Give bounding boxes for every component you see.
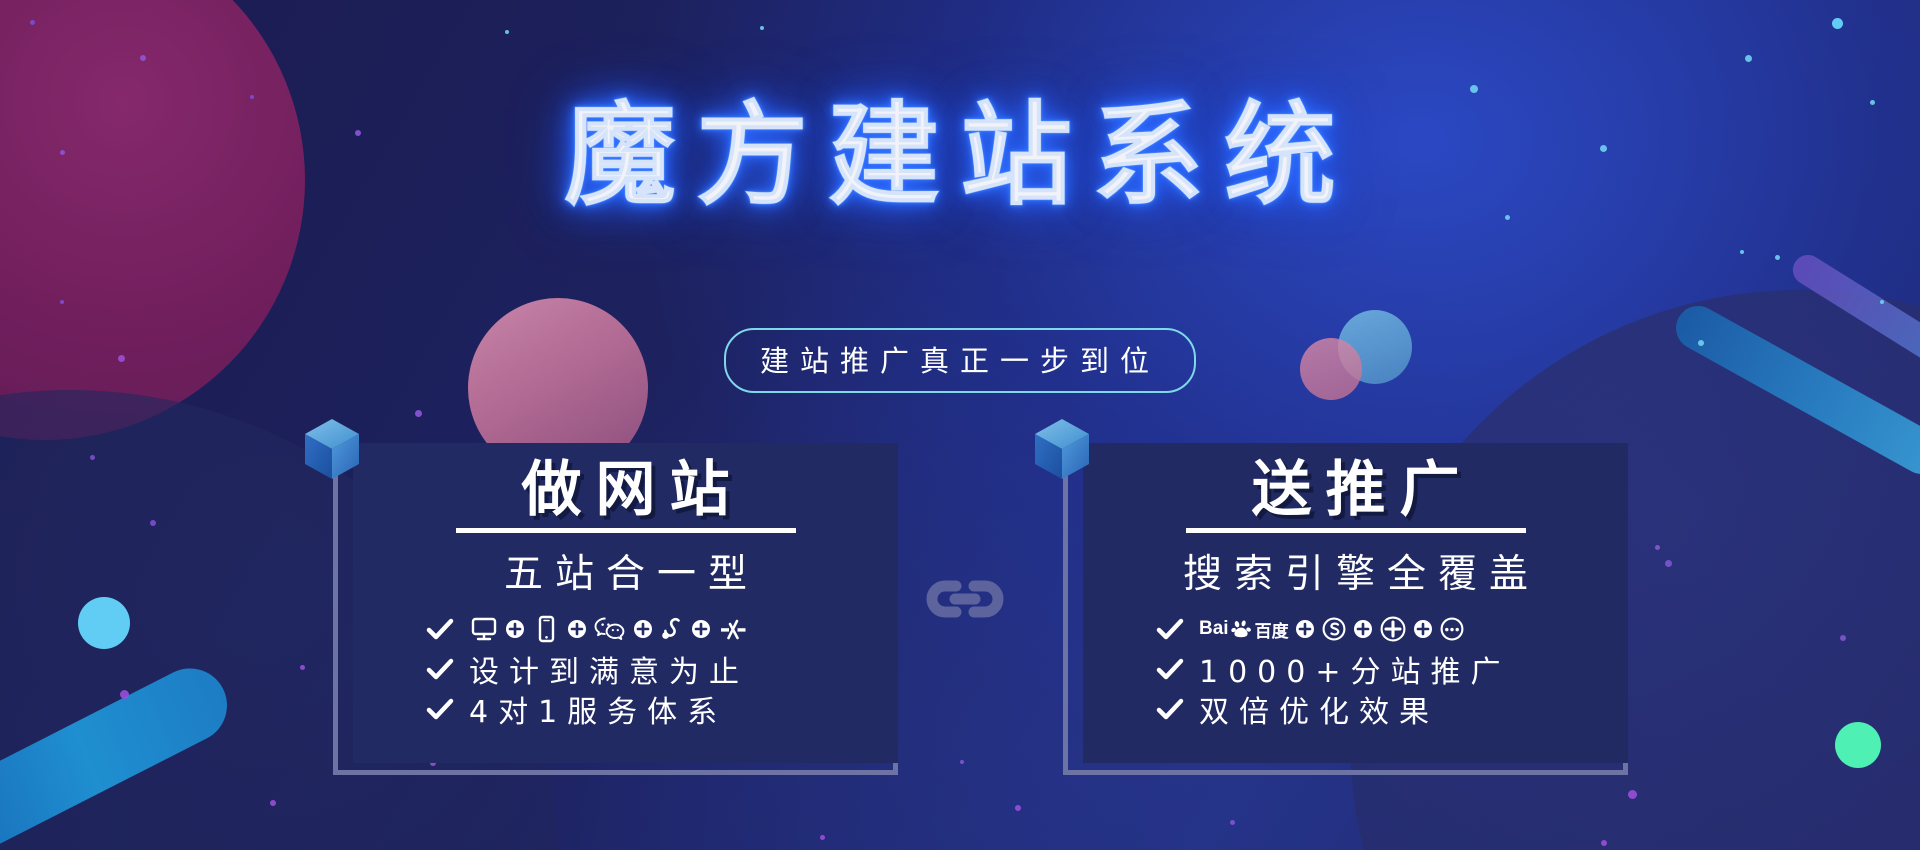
sogou-icon	[1321, 616, 1347, 642]
promo-banner: 魔方建站系统 建站推广真正一步到位	[0, 0, 1920, 850]
star-dot	[120, 690, 129, 699]
star-dot	[1745, 55, 1752, 62]
star-dot	[1840, 635, 1846, 641]
list-item: 4对1服务体系	[425, 689, 898, 729]
card-bullets: Bai 百度	[1083, 609, 1628, 729]
card-subtitle: 五站合一型	[492, 543, 759, 599]
list-item: 1000+分站推广	[1155, 649, 1628, 689]
plus-icon	[1353, 619, 1373, 639]
subtitle-container: 建站推广真正一步到位	[0, 328, 1920, 393]
star-dot	[415, 410, 422, 417]
wechat-icon	[593, 614, 627, 644]
list-item-label: 设计到满意为止	[469, 647, 749, 691]
mobile-icon	[531, 614, 561, 644]
plus-icon	[505, 619, 525, 639]
star-dot	[140, 55, 146, 61]
star-dot	[760, 26, 764, 30]
list-item-label: 双倍优化效果	[1199, 687, 1439, 731]
star-dot	[960, 760, 964, 764]
baidu-latin: Bai	[1199, 618, 1229, 640]
card-title: 送推广	[1238, 459, 1474, 522]
star-dot	[90, 455, 95, 460]
star-dot	[1015, 805, 1021, 811]
star-dot	[1230, 820, 1235, 825]
subtitle-pill: 建站推广真正一步到位	[724, 328, 1196, 393]
star-dot	[820, 835, 825, 840]
list-item: 设计到满意为止	[425, 649, 898, 689]
title-underline	[456, 528, 796, 533]
check-icon	[425, 614, 455, 644]
card-bullets: 设计到满意为止 4对1服务体系	[353, 609, 898, 729]
star-dot	[60, 300, 64, 304]
baidu-paw-icon	[1231, 619, 1253, 639]
more-dots-icon	[1439, 616, 1465, 642]
star-dot	[1470, 85, 1478, 93]
appstore-icon	[717, 614, 749, 644]
card-subtitle: 搜索引擎全覆盖	[1171, 543, 1540, 599]
star-dot	[1880, 300, 1884, 304]
star-dot	[30, 20, 35, 25]
star-dot	[1775, 255, 1780, 260]
star-dot	[505, 30, 509, 34]
star-dot	[1665, 560, 1672, 567]
search-engine-icons-row: Bai 百度	[1199, 615, 1465, 643]
check-icon	[1155, 694, 1185, 724]
star-dot	[1601, 840, 1607, 846]
card-content: 做网站 五站合一型	[353, 443, 898, 763]
page-title: 魔方建站系统	[0, 95, 1920, 218]
cube-icon	[1031, 415, 1093, 485]
title-underline	[1186, 528, 1526, 533]
star-dot	[1740, 250, 1744, 254]
list-item: Bai 百度	[1155, 609, 1628, 649]
baidu-han: 百度	[1255, 617, 1289, 642]
list-item: 双倍优化效果	[1155, 689, 1628, 729]
360-icon	[1379, 615, 1407, 643]
platform-icons-row	[469, 614, 749, 644]
mint-dot-decoration	[1835, 722, 1881, 768]
baidu-logo: Bai 百度	[1199, 617, 1289, 642]
plus-icon	[1295, 619, 1315, 639]
plus-icon	[1413, 619, 1433, 639]
link-chain-icon	[925, 576, 1005, 622]
blue-streak-decoration	[0, 656, 240, 850]
list-item-label: 4对1服务体系	[469, 687, 727, 731]
star-dot	[270, 800, 276, 806]
cyan-dot-decoration	[78, 597, 130, 649]
star-dot	[150, 520, 156, 526]
check-icon	[425, 694, 455, 724]
plus-icon	[691, 619, 711, 639]
card-content: 送推广 搜索引擎全覆盖 Bai	[1083, 443, 1628, 763]
card-make-website: 做网站 五站合一型	[333, 455, 898, 775]
list-item	[425, 609, 898, 649]
star-dot	[300, 665, 305, 670]
plus-icon	[567, 619, 587, 639]
monitor-icon	[469, 614, 499, 644]
check-icon	[425, 654, 455, 684]
card-title: 做网站	[508, 459, 744, 522]
list-item-label: 1000+分站推广	[1199, 647, 1510, 691]
star-dot	[1655, 545, 1660, 550]
cube-icon	[301, 415, 363, 485]
check-icon	[1155, 654, 1185, 684]
cyan-tiny-dot-decoration	[1832, 18, 1843, 29]
star-dot	[1628, 790, 1637, 799]
check-icon	[1155, 614, 1185, 644]
card-free-promotion: 送推广 搜索引擎全覆盖 Bai	[1063, 455, 1628, 775]
plus-icon	[633, 619, 653, 639]
weibo-icon	[659, 614, 685, 644]
